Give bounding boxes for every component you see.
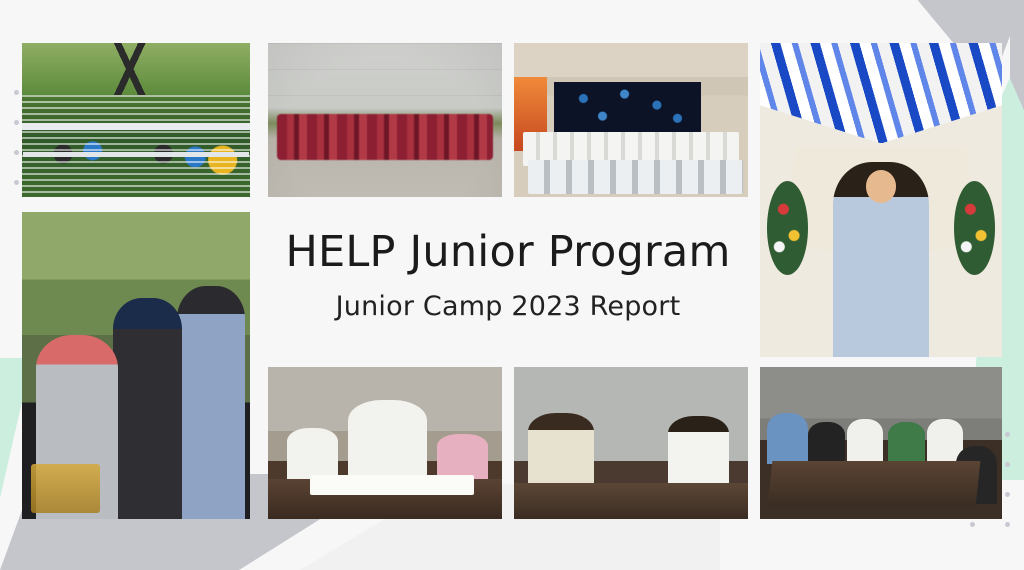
photo-two-students-desk: Two students at a study desk, one making… xyxy=(514,367,748,519)
photo-graduation: Graduation ceremony group photo with GRA… xyxy=(514,43,748,197)
title-block: HELP Junior Program Junior Camp 2023 Rep… xyxy=(258,228,758,324)
photo-outdoor-activity: Students outdoors pointing, girl in pink… xyxy=(22,212,250,519)
page-subtitle: Junior Camp 2023 Report xyxy=(258,291,758,323)
dot xyxy=(14,90,19,95)
photo-zipline: Students on zipline platform in forest a… xyxy=(22,43,250,197)
dot xyxy=(14,180,19,185)
dot xyxy=(14,120,19,125)
page-title: HELP Junior Program xyxy=(258,228,758,277)
dot xyxy=(1005,462,1010,467)
photo-group: Large group photo of camp students in re… xyxy=(268,43,502,197)
photo-meeting-table: Group of students seated around a meetin… xyxy=(760,367,1002,519)
dot xyxy=(1005,492,1010,497)
presentation-slide: Students on zipline platform in forest a… xyxy=(0,0,1024,570)
left-dot-column xyxy=(14,90,19,210)
dot xyxy=(970,522,975,527)
dot xyxy=(1005,522,1010,527)
dot xyxy=(14,150,19,155)
photo-study-class: Students studying and writing at classro… xyxy=(268,367,502,519)
dot xyxy=(1005,432,1010,437)
photo-speaker: Student speaking into microphone in fron… xyxy=(760,43,1002,357)
